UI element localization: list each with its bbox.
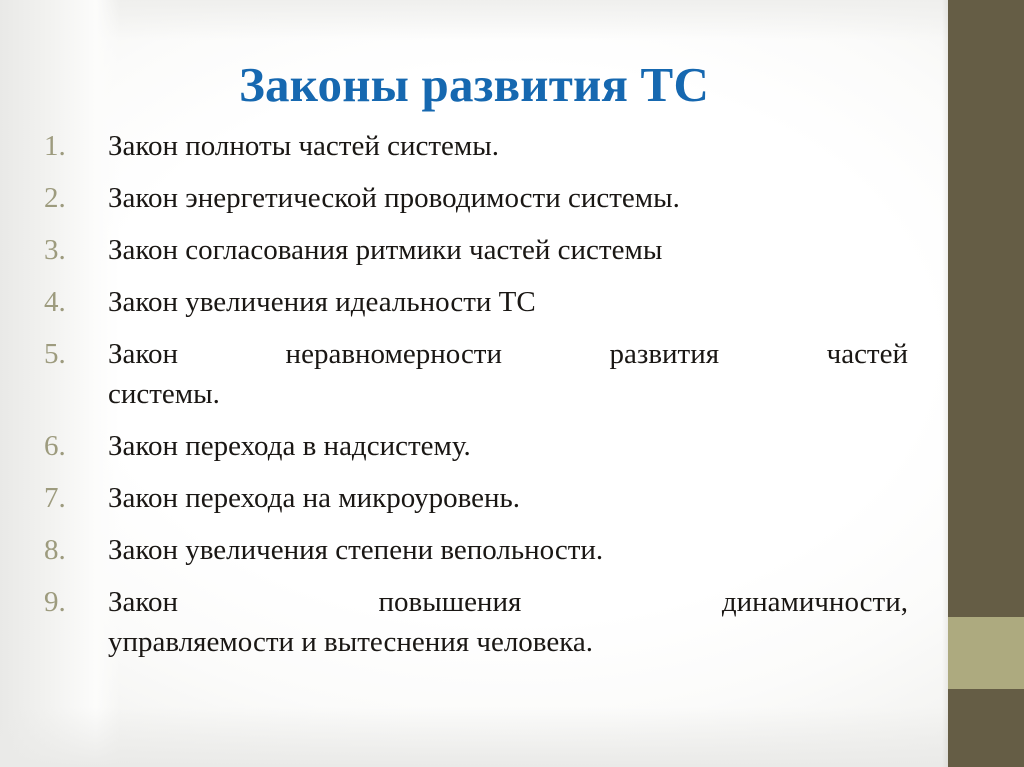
law-text-6: Закон перехода в надсистему. xyxy=(108,430,471,462)
law-text-1: Закон полноты частей системы. xyxy=(108,130,499,162)
law-list-item-3: Закон согласования ритмики частей систем… xyxy=(40,230,908,270)
law-text-8: Закон увеличения степени вепольности. xyxy=(108,534,603,566)
presentation-slide: Законы развития ТС Закон полноты частей … xyxy=(0,0,1024,767)
law-text-9-line-1: Закон повышения динамичности, xyxy=(108,582,908,622)
law-list-item-1: Закон полноты частей системы. xyxy=(40,126,908,166)
side-bar-accent-block xyxy=(948,617,1024,689)
law-text-5-line-1: Закон неравномерности развития частей xyxy=(108,334,908,374)
law-list-item-4: Закон увеличения идеальности ТС xyxy=(40,282,908,322)
law-text-9-line-2: управляемости и вытеснения человека. xyxy=(108,622,908,662)
slide-content: Законы развития ТС Закон полноты частей … xyxy=(0,0,948,767)
law-text-5-line-2: системы. xyxy=(108,374,908,414)
slide-title: Законы развития ТС xyxy=(40,58,908,113)
laws-numbered-list: Закон полноты частей системы. Закон энер… xyxy=(40,126,908,674)
law-list-item-5: Закон неравномерности развития частей си… xyxy=(40,334,908,414)
law-list-item-8: Закон увеличения степени вепольности. xyxy=(40,530,908,570)
law-list-item-7: Закон перехода на микроуровень. xyxy=(40,478,908,518)
law-list-item-2: Закон энергетической проводимости систем… xyxy=(40,178,908,218)
law-list-item-9: Закон повышения динамичности, управляемо… xyxy=(40,582,908,662)
law-list-item-6: Закон перехода в надсистему. xyxy=(40,426,908,466)
law-text-2: Закон энергетической проводимости систем… xyxy=(108,182,680,214)
law-text-7: Закон перехода на микроуровень. xyxy=(108,482,520,514)
law-text-4: Закон увеличения идеальности ТС xyxy=(108,286,536,318)
decorative-side-bar xyxy=(948,0,1024,767)
law-text-3: Закон согласования ритмики частей систем… xyxy=(108,234,662,266)
